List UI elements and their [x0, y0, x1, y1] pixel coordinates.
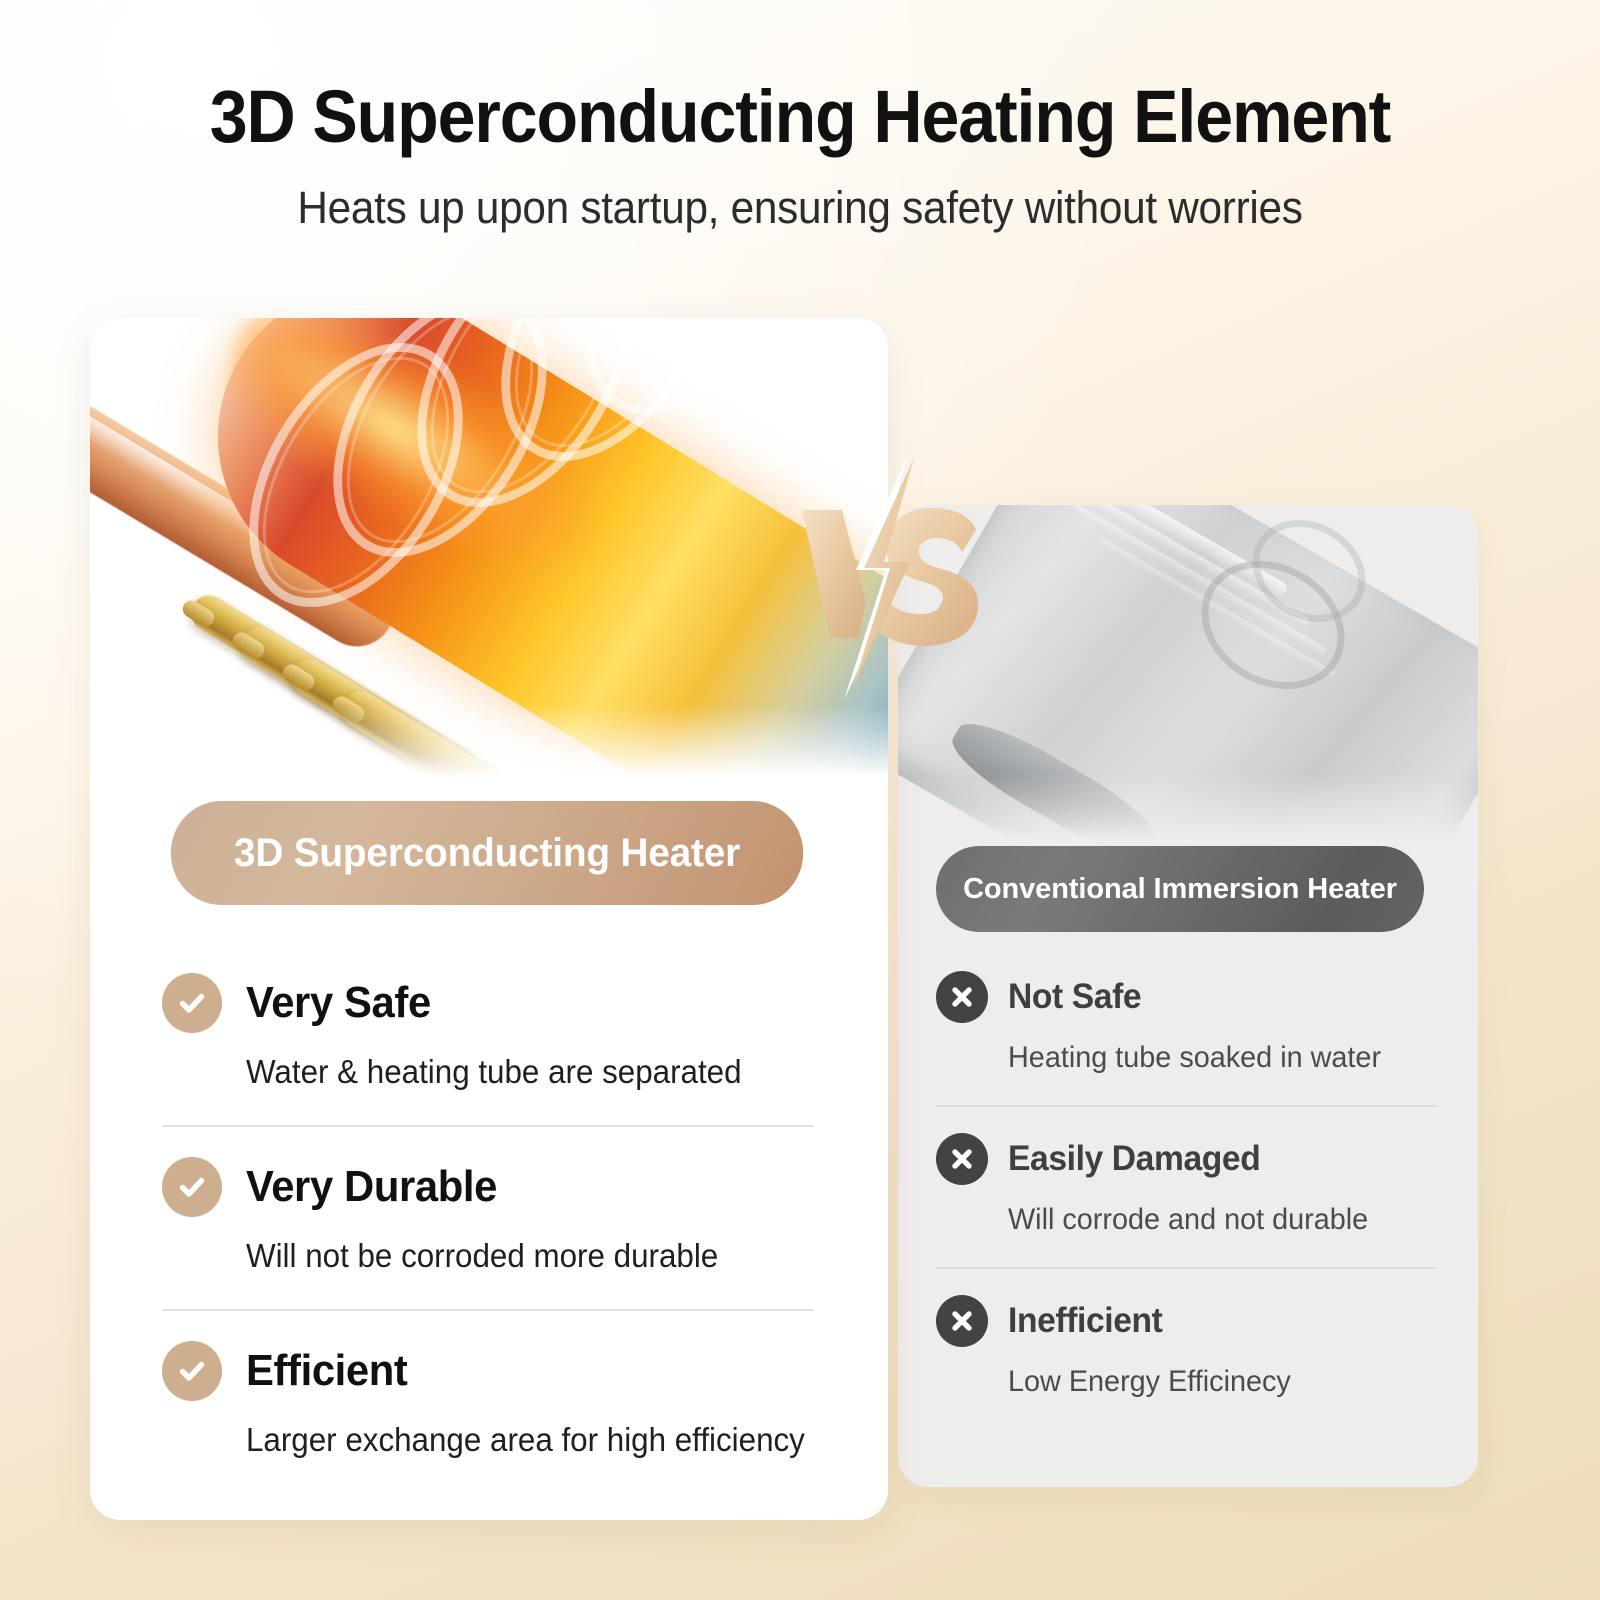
- feature-description: Low Energy Efficinecy: [1008, 1365, 1419, 1399]
- x-icon: [936, 971, 988, 1023]
- feature-description: Will corrode and not durable: [1008, 1203, 1419, 1237]
- superconducting-heater-pill: 3D Superconducting Heater: [171, 801, 803, 905]
- list-item: Not Safe Heating tube soaked in water: [936, 945, 1436, 1105]
- feature-header: Very Safe: [162, 973, 814, 1033]
- check-icon: [162, 973, 222, 1033]
- feature-title: Efficient: [246, 1346, 407, 1396]
- conventional-heater-photo: [898, 505, 1478, 855]
- list-item: Very Durable Will not be corroded more d…: [162, 1125, 814, 1309]
- page-subtitle: Heats up upon startup, ensuring safety w…: [48, 182, 1552, 234]
- feature-title: Not Safe: [1008, 977, 1141, 1017]
- feature-description: Heating tube soaked in water: [1008, 1041, 1419, 1075]
- x-icon: [936, 1133, 988, 1185]
- feature-title: Very Durable: [246, 1162, 497, 1212]
- list-item: Very Safe Water & heating tube are separ…: [162, 943, 814, 1125]
- list-item: Efficient Larger exchange area for high …: [162, 1309, 814, 1493]
- feature-title: Very Safe: [246, 978, 431, 1028]
- comparison-card-conventional: Conventional Immersion Heater Not Safe H…: [898, 505, 1478, 1487]
- feature-header: Easily Damaged: [936, 1133, 1436, 1185]
- x-icon: [936, 1295, 988, 1347]
- page-title: 3D Superconducting Heating Element: [64, 78, 1536, 156]
- feature-header: Inefficient: [936, 1295, 1436, 1347]
- infographic-root: 3D Superconducting Heating Element Heats…: [0, 0, 1600, 1600]
- photo-fade: [898, 775, 1478, 855]
- check-icon: [162, 1341, 222, 1401]
- feature-description: Will not be corroded more durable: [246, 1237, 786, 1275]
- feature-description: Water & heating tube are separated: [246, 1053, 786, 1091]
- comparison-card-superconducting: 3D Superconducting Heater Very Safe Wate…: [90, 318, 888, 1520]
- feature-description: Larger exchange area for high efficiency: [246, 1421, 786, 1459]
- conventional-heater-pill: Conventional Immersion Heater: [936, 846, 1424, 932]
- feature-header: Very Durable: [162, 1157, 814, 1217]
- feature-header: Efficient: [162, 1341, 814, 1401]
- feature-title: Inefficient: [1008, 1301, 1162, 1341]
- photo-fade: [90, 706, 888, 796]
- list-item: Inefficient Low Energy Efficinecy: [936, 1267, 1436, 1429]
- check-icon: [162, 1157, 222, 1217]
- feature-title: Easily Damaged: [1008, 1139, 1260, 1179]
- superconducting-feature-list: Very Safe Water & heating tube are separ…: [162, 943, 814, 1493]
- superconducting-heater-photo: [90, 318, 888, 796]
- header: 3D Superconducting Heating Element Heats…: [0, 78, 1600, 234]
- feature-header: Not Safe: [936, 971, 1436, 1023]
- list-item: Easily Damaged Will corrode and not dura…: [936, 1105, 1436, 1267]
- conventional-feature-list: Not Safe Heating tube soaked in water Ea…: [936, 945, 1436, 1429]
